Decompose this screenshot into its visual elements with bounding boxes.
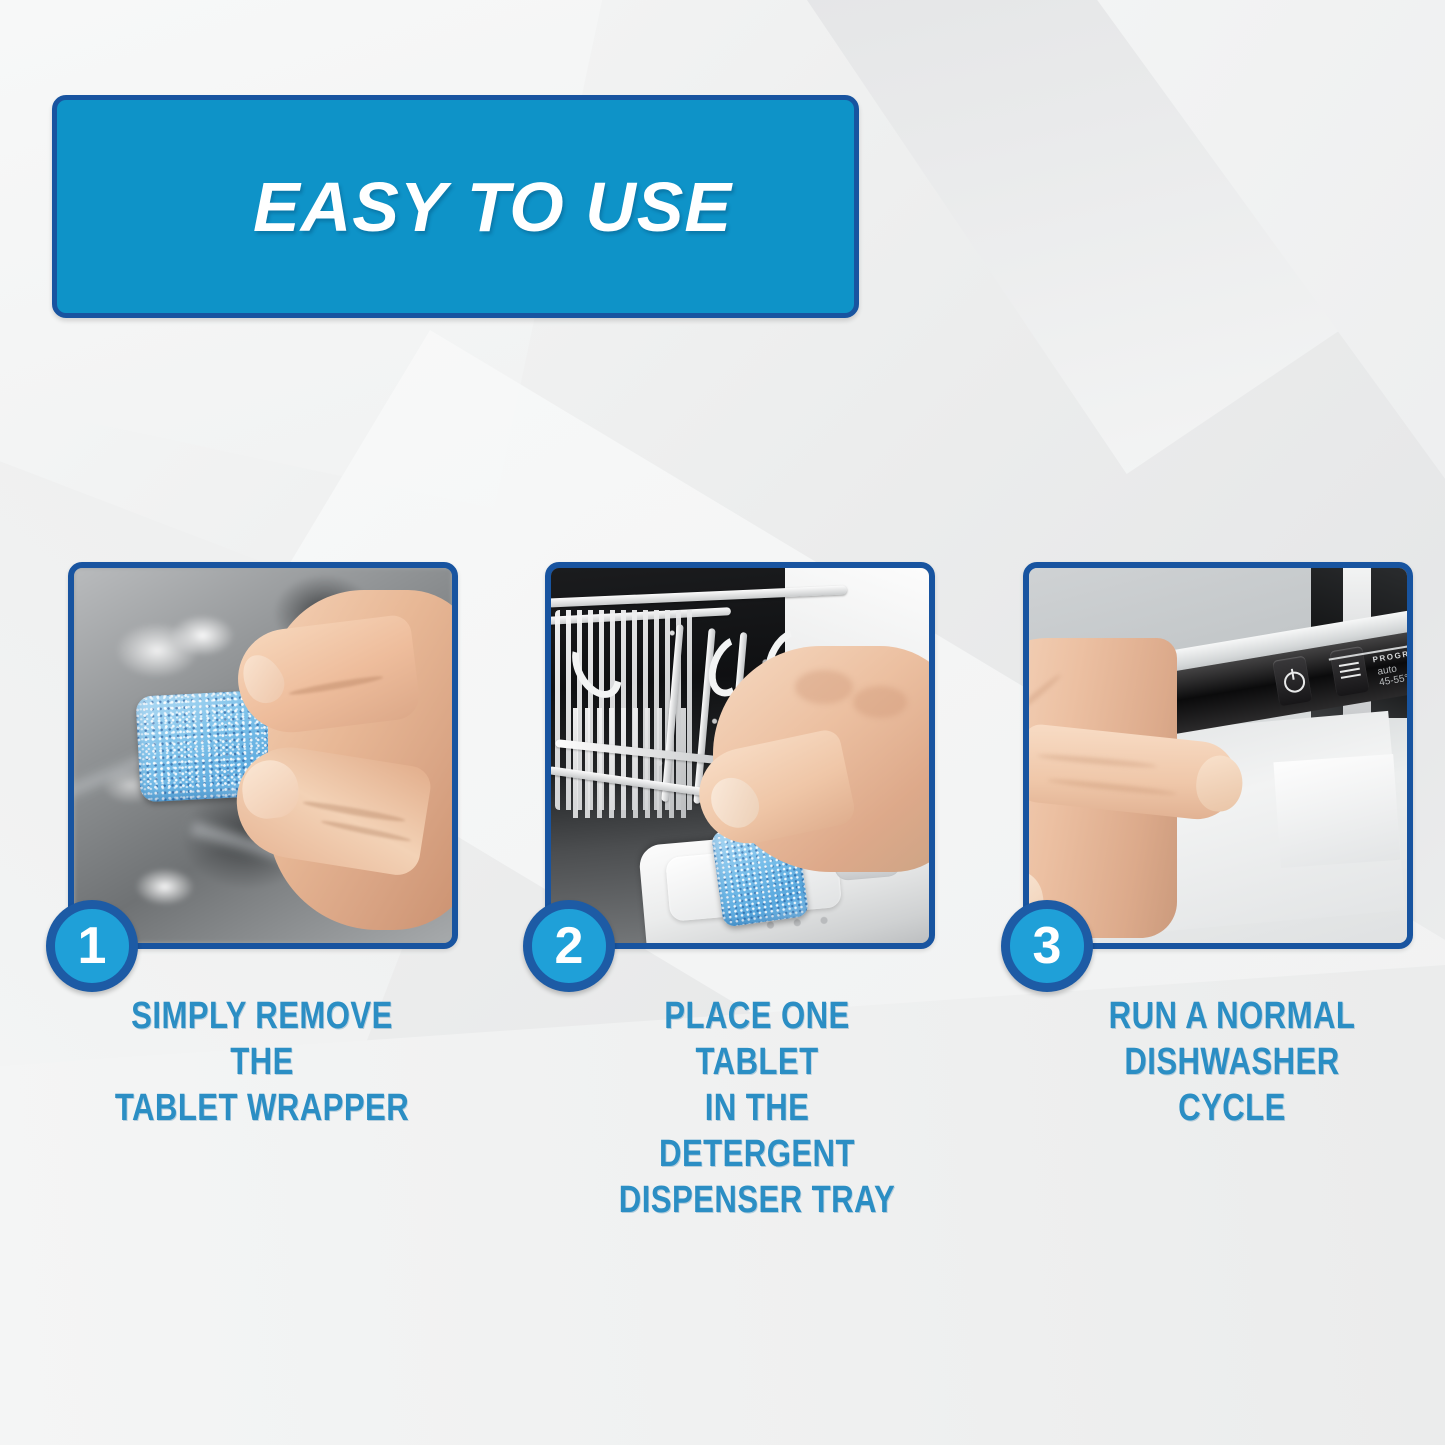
hand-placing-tablet [703,646,935,896]
hand-holding-tablet [228,572,458,944]
step-1-number: 1 [78,920,107,972]
step-2-number: 2 [555,920,584,972]
index-fingernail [235,648,292,710]
step-3-caption: RUN A NORMAL DISHWASHER CYCLE [1085,993,1379,1131]
step-3-number: 3 [1033,920,1062,972]
step-2: 2 PLACE ONE TABLET IN THE DETERGENT DISP… [545,562,933,1223]
step-2-badge: 2 [523,900,615,992]
hand-pressing-button [1023,638,1247,938]
knuckle-shadow [853,686,907,718]
step-2-caption: PLACE ONE TABLET IN THE DETERGENT DISPEN… [613,993,902,1223]
steps-row: 1 SIMPLY REMOVE THE TABLET WRAPPER [0,0,1445,1445]
power-icon [1282,670,1306,694]
fingertip [1194,753,1246,814]
list-icon [1338,662,1360,681]
step-3-badge: 3 [1001,900,1093,992]
step-1: 1 SIMPLY REMOVE THE TABLET WRAPPER [68,562,456,1131]
step-1-caption: SIMPLY REMOVE THE TABLET WRAPPER [103,993,421,1131]
index-finger [232,614,421,739]
step-3: PROGRA auto 45-55° 60° eco 45° [1023,562,1411,1131]
index-fingernail [701,768,768,836]
step-2-photo [545,562,935,949]
knuckle-shadow [795,670,853,704]
thumbnail [239,757,302,821]
step-1-photo [68,562,458,949]
step-3-photo: PROGRA auto 45-55° 60° eco 45° [1023,562,1413,949]
infographic-canvas: EASY TO USE [0,0,1445,1445]
dishwasher-door-front [1273,754,1400,868]
step-1-badge: 1 [46,900,138,992]
cycle-auto-label: auto 45-55° [1377,663,1410,689]
